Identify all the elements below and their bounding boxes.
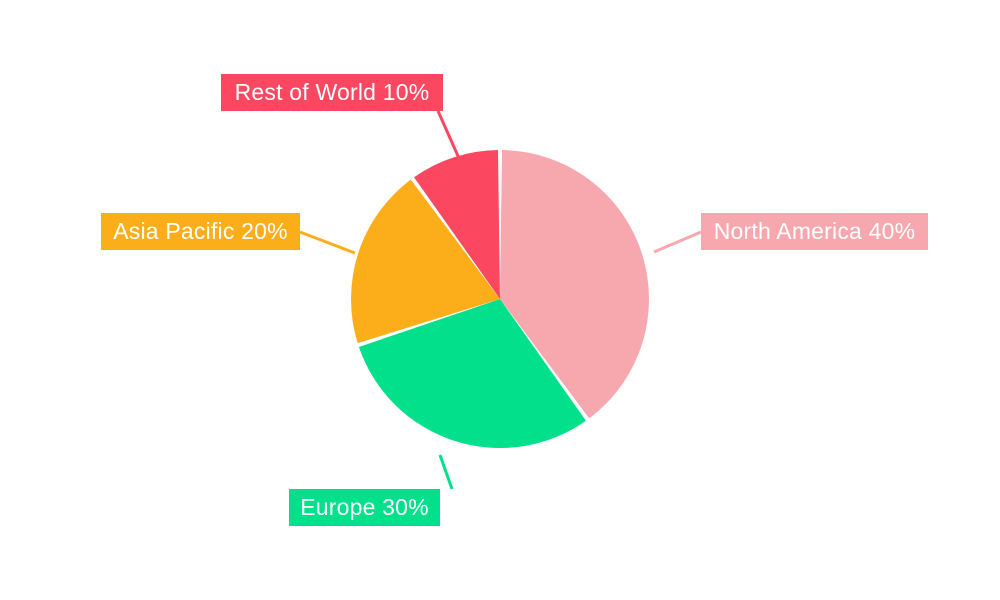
slice-label-text: North America 40% <box>714 220 916 243</box>
slice-label-rest-of-world[interactable]: Rest of World 10% <box>221 74 443 111</box>
leader-line-europe <box>440 455 452 489</box>
leader-line-asia-pacific <box>300 232 355 253</box>
slice-label-asia-pacific[interactable]: Asia Pacific 20% <box>101 213 300 250</box>
slice-label-text: Asia Pacific 20% <box>113 220 288 243</box>
slice-label-text: Rest of World 10% <box>235 81 430 104</box>
slice-label-europe[interactable]: Europe 30% <box>289 489 440 526</box>
slice-label-text: Europe 30% <box>300 496 429 519</box>
leader-line-north-america <box>654 232 701 252</box>
pie-chart-canvas <box>0 0 1000 600</box>
pie-slices-group <box>351 150 649 448</box>
slice-label-north-america[interactable]: North America 40% <box>701 213 928 250</box>
pie-chart-figure: North America 40%Europe 30%Asia Pacific … <box>0 0 1000 600</box>
